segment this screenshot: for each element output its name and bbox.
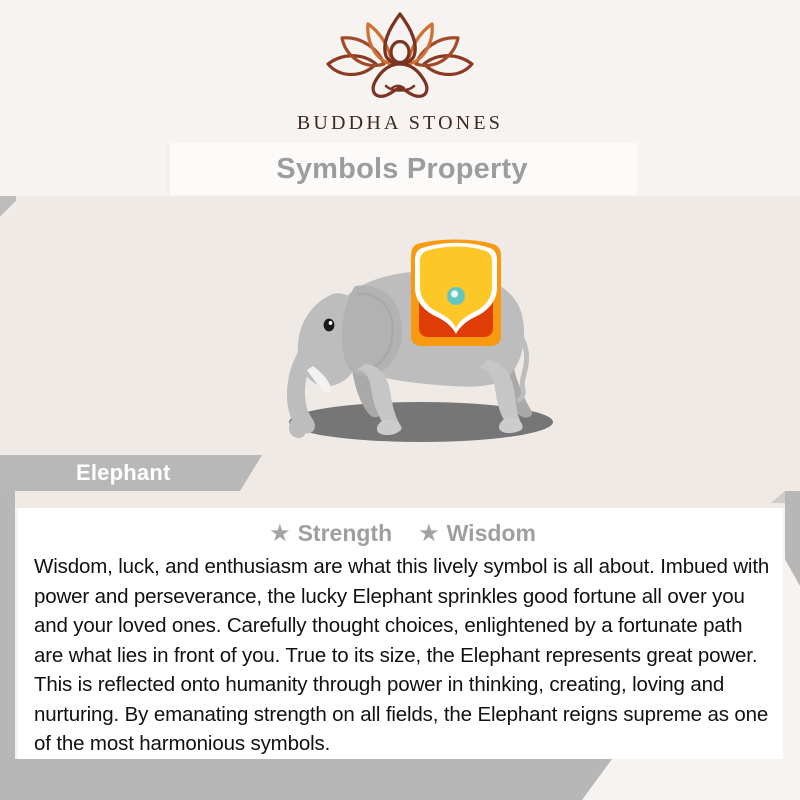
- symbol-name-banner: Elephant: [0, 455, 262, 491]
- left-rail-decor: [0, 491, 15, 759]
- symbol-name-label: Elephant: [76, 460, 171, 486]
- traits-row: ★ Strength ★ Wisdom: [34, 520, 771, 547]
- infographic-page: BUDDHA STONES Symbols Property: [0, 0, 800, 800]
- trait-label-wisdom: Wisdom: [447, 520, 536, 547]
- bottom-bar-decor: [0, 759, 612, 800]
- brand-name: BUDDHA STONES: [297, 112, 503, 135]
- lotus-meditation-icon: [316, 8, 484, 106]
- title-band: Symbols Property: [167, 143, 637, 195]
- star-icon: ★: [418, 522, 440, 546]
- walking-elephant-illustration: [225, 224, 595, 484]
- trait-label-strength: Strength: [298, 520, 393, 547]
- right-rail-decor: [785, 491, 800, 586]
- corner-notch-decor: [0, 196, 16, 218]
- symbol-description: Wisdom, luck, and enthusiasm are what th…: [34, 552, 771, 759]
- trait-wisdom: ★ Wisdom: [418, 520, 536, 547]
- brand-logo: BUDDHA STONES: [0, 8, 800, 135]
- trait-strength: ★ Strength: [269, 520, 392, 547]
- description-card: ★ Strength ★ Wisdom Wisdom, luck, and en…: [18, 508, 783, 759]
- star-icon: ★: [269, 522, 291, 546]
- elephant-eye: [324, 319, 335, 332]
- page-title: Symbols Property: [276, 153, 527, 186]
